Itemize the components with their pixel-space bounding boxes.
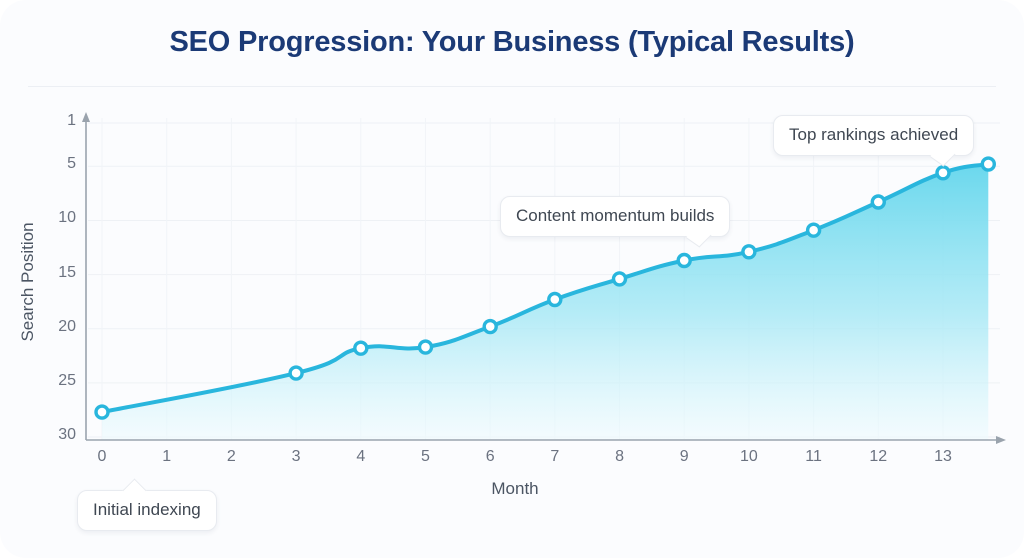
- data-point: [982, 158, 994, 170]
- y-axis-tick-label: 10: [36, 209, 76, 227]
- x-axis-tick-label: 7: [540, 448, 570, 466]
- y-axis-arrow: [82, 112, 90, 122]
- x-axis-tick-label: 3: [281, 448, 311, 466]
- data-point: [808, 224, 820, 236]
- x-axis-arrow: [996, 436, 1006, 444]
- chart-card: SEO Progression: Your Business (Typical …: [0, 0, 1024, 558]
- x-axis-tick-label: 6: [475, 448, 505, 466]
- annotation-text: Initial indexing: [93, 500, 201, 519]
- chart-plot-area: Search Position Month 151015202530 01234…: [0, 0, 1024, 558]
- y-axis-tick-label: 5: [36, 155, 76, 173]
- data-point: [678, 255, 690, 267]
- annotation-text: Content momentum builds: [516, 206, 714, 225]
- x-axis-tick-label: 11: [799, 448, 829, 466]
- x-axis-tick-label: 12: [863, 448, 893, 466]
- x-axis-tick-label: 9: [669, 448, 699, 466]
- x-axis-tick-label: 0: [87, 448, 117, 466]
- y-axis-tick-label: 30: [36, 426, 76, 444]
- y-axis-tick-label: 25: [36, 372, 76, 390]
- x-axis-tick-label: 1: [152, 448, 182, 466]
- data-point: [290, 367, 302, 379]
- data-point: [484, 321, 496, 333]
- annotation-content-momentum: Content momentum builds: [500, 196, 730, 237]
- seo-progression-line-chart: [0, 0, 1024, 558]
- data-point: [96, 406, 108, 418]
- x-axis-label: Month: [425, 479, 605, 499]
- data-point: [614, 273, 626, 285]
- y-axis-label: Search Position: [18, 192, 38, 372]
- x-axis-tick-label: 4: [346, 448, 376, 466]
- data-point: [872, 196, 884, 208]
- annotation-text: Top rankings achieved: [789, 125, 958, 144]
- y-axis-tick-label: 1: [36, 112, 76, 130]
- x-axis-tick-label: 8: [605, 448, 635, 466]
- x-axis-tick-label: 13: [928, 448, 958, 466]
- data-point: [937, 167, 949, 179]
- x-axis-tick-label: 10: [734, 448, 764, 466]
- y-axis-tick-label: 20: [36, 318, 76, 336]
- y-axis-tick-label: 15: [36, 264, 76, 282]
- data-point: [355, 342, 367, 354]
- data-point: [743, 246, 755, 258]
- data-point: [549, 294, 561, 306]
- annotation-top-rankings: Top rankings achieved: [773, 115, 974, 156]
- x-axis-tick-label: 2: [216, 448, 246, 466]
- data-point: [420, 341, 432, 353]
- annotation-initial-indexing: Initial indexing: [77, 490, 217, 531]
- x-axis-tick-label: 5: [410, 448, 440, 466]
